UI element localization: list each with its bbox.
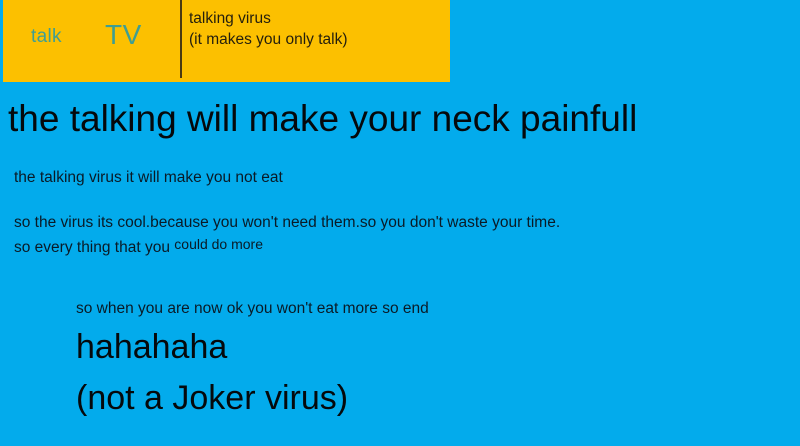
banner-caption: talking virus (it makes you only talk)	[189, 8, 439, 50]
banner-caption-line-1: talking virus	[189, 8, 439, 29]
brand-zone: talk TV	[3, 0, 180, 82]
paragraph-line-2: so every thing that you could do more	[14, 239, 263, 257]
banner-caption-line-2: (it makes you only talk)	[189, 29, 439, 50]
brand-tv-label: TV	[105, 21, 142, 49]
paragraph-line-2-raised: could do more	[174, 236, 263, 252]
banner-divider	[180, 0, 182, 78]
brand-talk-label: talk	[31, 27, 62, 46]
yellow-header-banner: talk TV talking virus (it makes you only…	[3, 0, 450, 82]
laugh-text: hahahaha	[76, 330, 227, 366]
subheading: the talking virus it will make you not e…	[14, 169, 283, 187]
disclaimer-text: (not a Joker virus)	[76, 381, 348, 417]
meme-canvas: talk TV talking virus (it makes you only…	[0, 0, 800, 446]
headline: the talking will make your neck painfull	[8, 100, 637, 139]
paragraph-line-2-main: so every thing that you	[14, 239, 170, 256]
paragraph-line-1: so the virus its cool.because you won't …	[14, 214, 560, 232]
closing-line: so when you are now ok you won't eat mor…	[76, 300, 429, 318]
